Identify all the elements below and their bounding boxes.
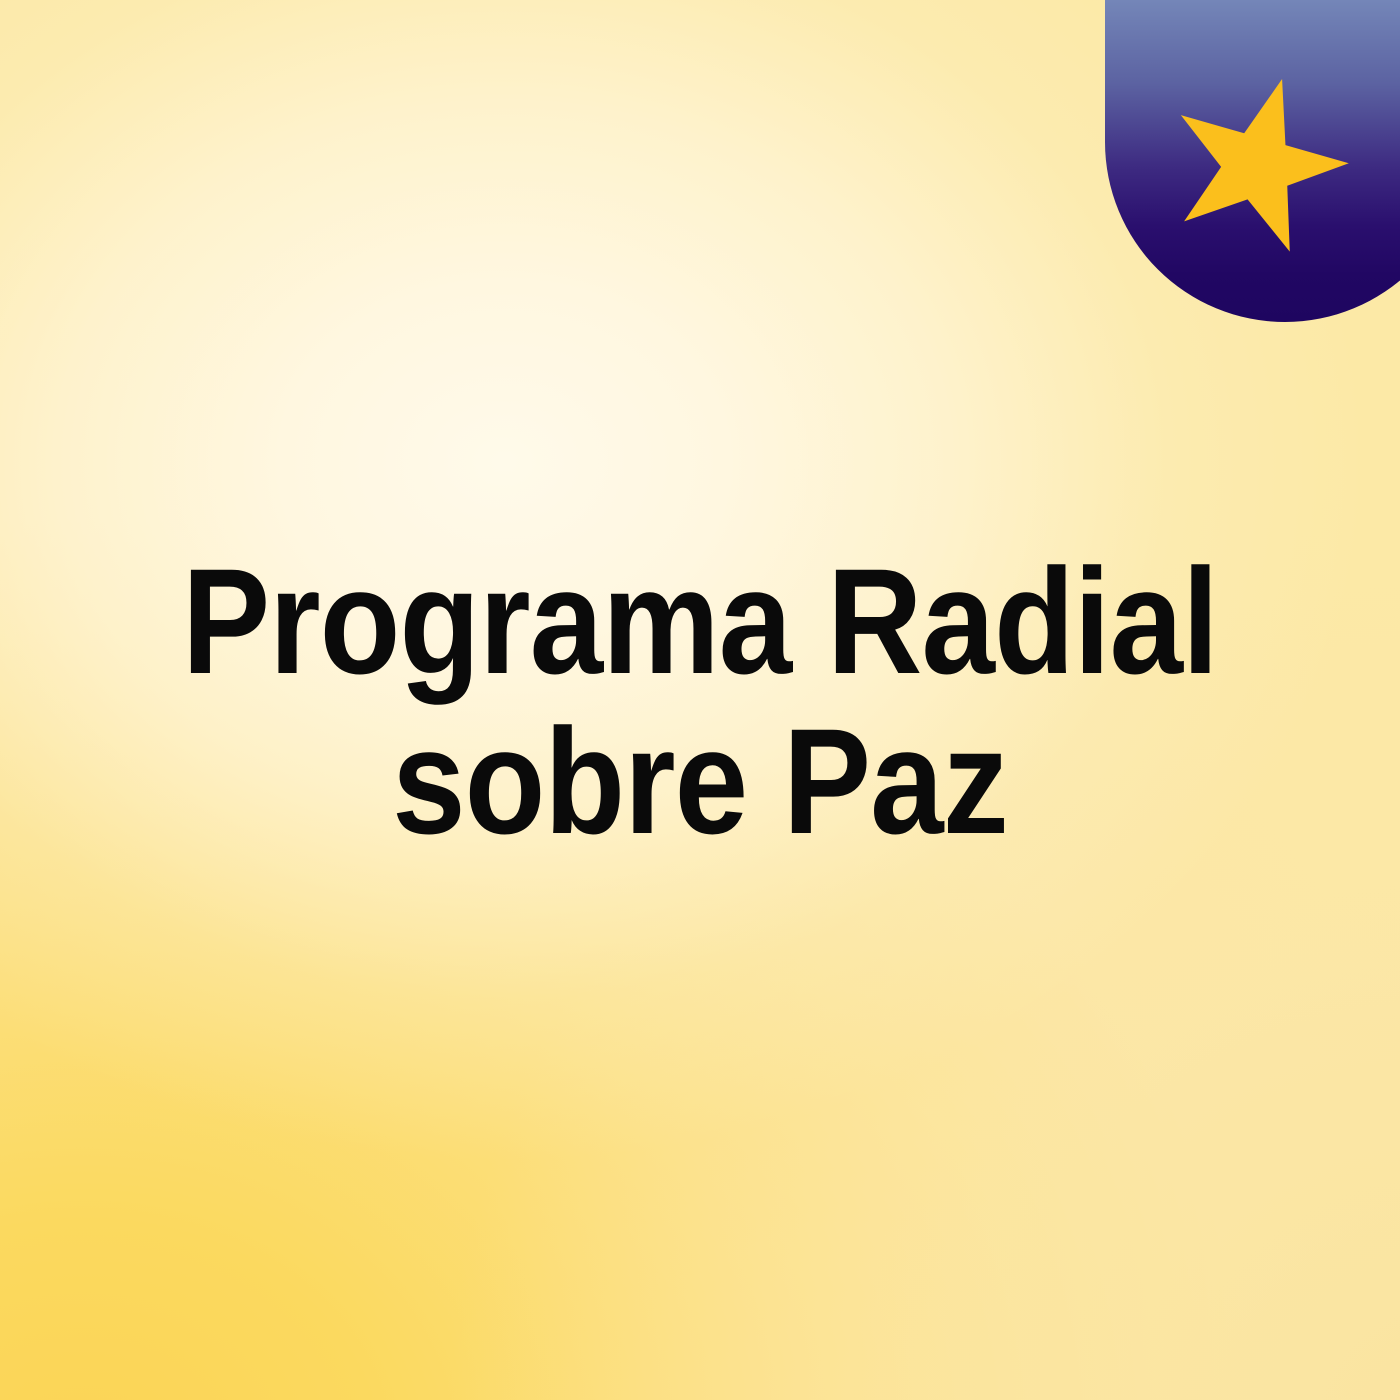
poster-canvas: Programa Radial sobre Paz <box>0 0 1400 1400</box>
page-title: Programa Radial sobre Paz <box>84 541 1316 861</box>
star-icon <box>1167 72 1349 254</box>
